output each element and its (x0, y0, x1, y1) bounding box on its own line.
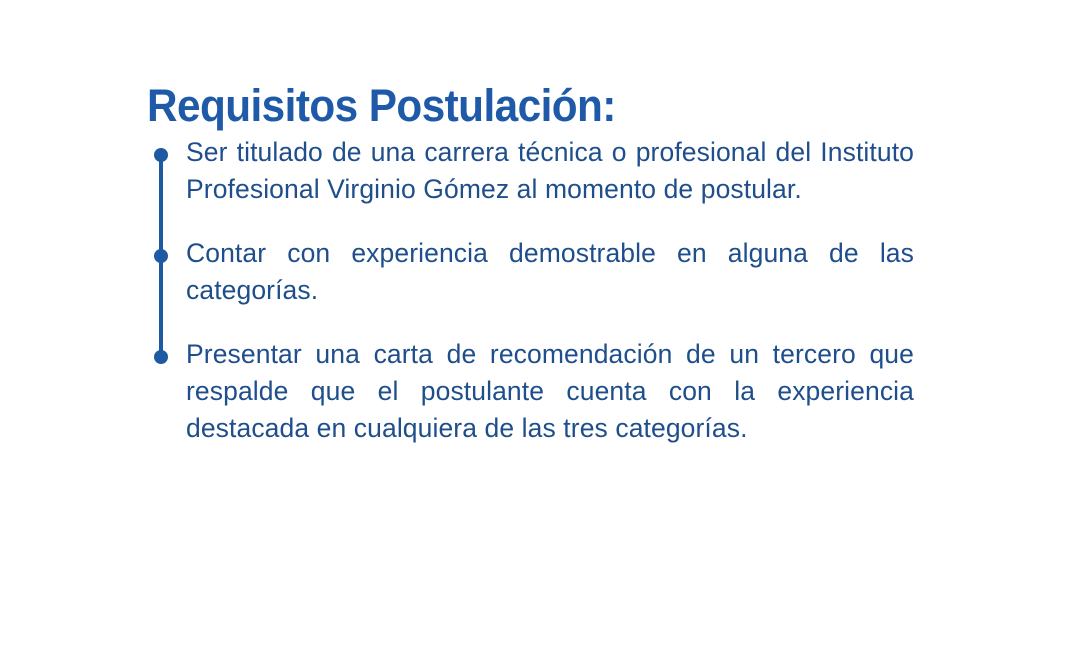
list-item: Ser titulado de una carrera técnica o pr… (154, 134, 914, 208)
page-title: Requisitos Postulación: (147, 82, 616, 129)
requirements-slide: Requisitos Postulación: Ser titulado de … (0, 0, 1080, 672)
list-item: Contar con experiencia demostrable en al… (154, 235, 914, 309)
requirements-list: Ser titulado de una carrera técnica o pr… (154, 134, 914, 447)
requirement-text: Contar con experiencia demostrable en al… (186, 235, 914, 309)
list-item: Presentar una carta de recomendación de … (154, 336, 914, 447)
requirement-text: Ser titulado de una carrera técnica o pr… (186, 134, 914, 208)
timeline-dot-icon (154, 148, 168, 162)
requirement-text: Presentar una carta de recomendación de … (186, 336, 914, 447)
timeline-dot-icon (154, 249, 168, 263)
timeline-dot-icon (154, 350, 168, 364)
